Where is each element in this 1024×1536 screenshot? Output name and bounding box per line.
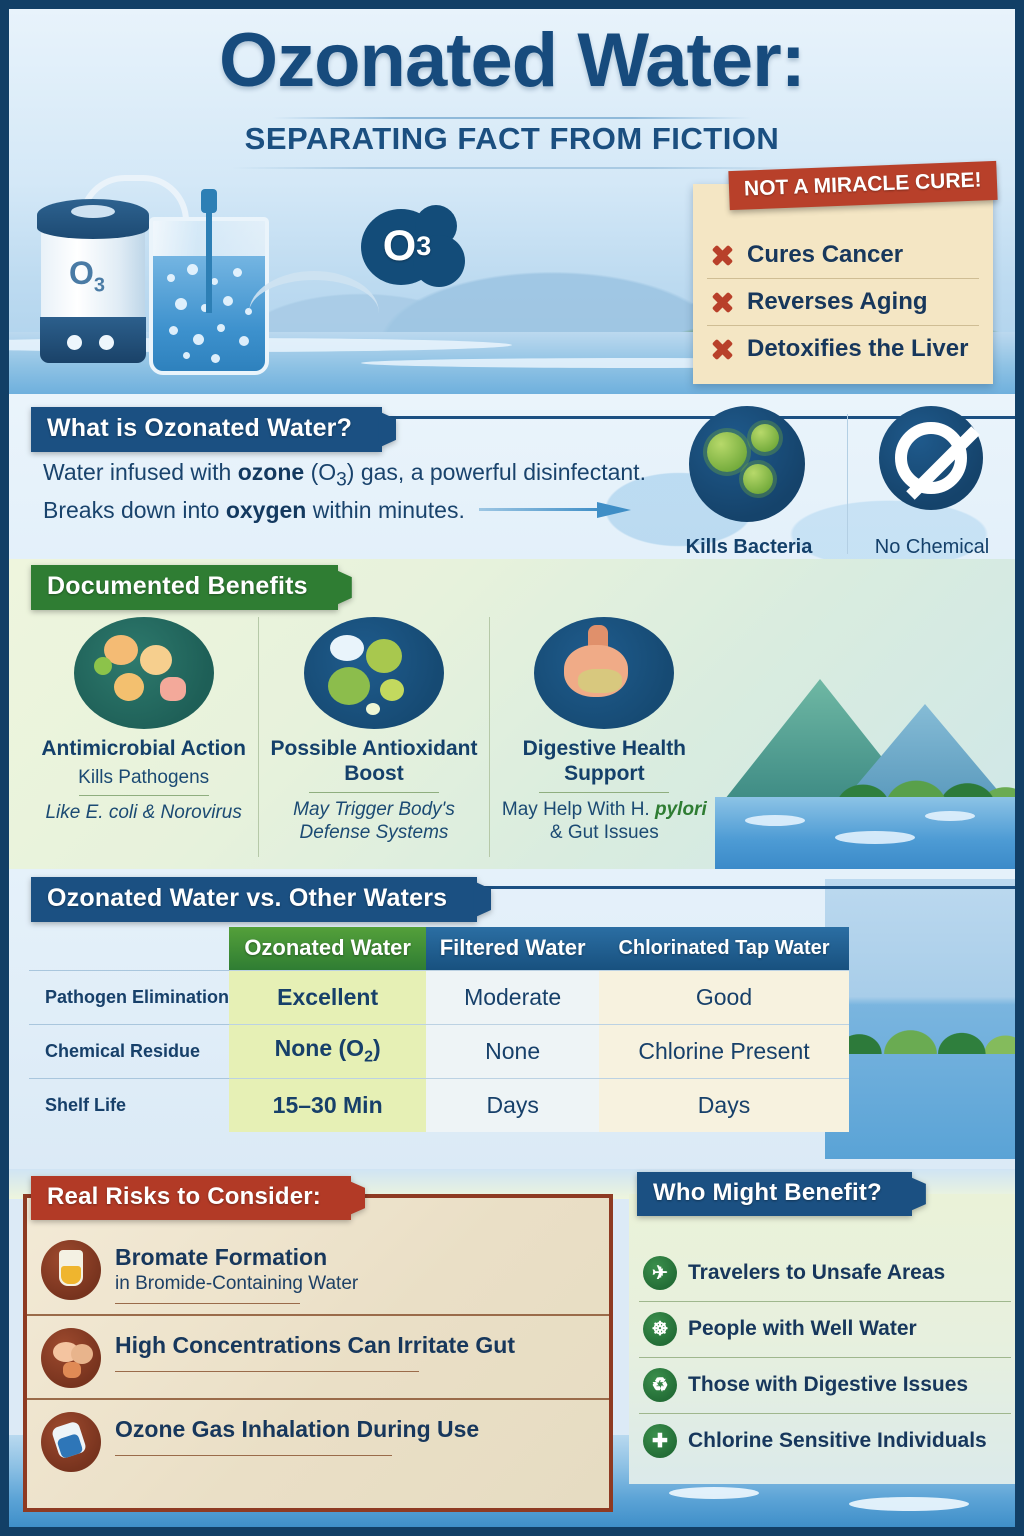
who-panel: ✈ Travelers to Unsafe Areas ☸ People wit… [629, 1194, 1019, 1484]
cell-filtered: Days [426, 1078, 599, 1132]
o3-badge-label: O3 [361, 205, 453, 287]
risks-banner: Real Risks to Consider: [31, 1176, 351, 1220]
column-header-chlorinated: Chlorinated Tap Water [599, 927, 849, 970]
table-row: Pathogen Elimination Excellent Moderate … [29, 970, 849, 1024]
myth-item: Reverses Aging [707, 278, 979, 325]
h-pylori-highlight: pylori [655, 799, 707, 820]
benefits-columns: Antimicrobial Action Kills Pathogens Lik… [29, 617, 719, 857]
organs-icon [41, 1328, 101, 1388]
who-item: ♻ Those with Digestive Issues [639, 1357, 1011, 1413]
who-item: ✚ Chlorine Sensitive Individuals [639, 1413, 1011, 1469]
benefits-banner: Documented Benefits [31, 565, 338, 610]
title-divider [272, 117, 752, 119]
digestive-tract-icon [534, 617, 674, 729]
who-item: ☸ People with Well Water [639, 1301, 1011, 1357]
comparison-banner-label: Ozonated Water vs. Other Waters [47, 884, 447, 912]
subtitle-divider [232, 167, 792, 169]
header-section: Ozonated Water: SEPARATING FACT FROM FIC… [9, 9, 1015, 394]
infographic-poster: Ozonated Water: SEPARATING FACT FROM FIC… [0, 0, 1024, 1536]
who-item-label: Travelers to Unsafe Areas [688, 1261, 945, 1285]
myth-item-label: Reverses Aging [747, 288, 928, 316]
benefit-sub-line2: Defense Systems [269, 821, 478, 845]
generator-button [99, 335, 114, 350]
inhaler-icon [41, 1412, 101, 1472]
risk-heading: High Concentrations Can Irritate Gut [115, 1332, 515, 1359]
germs-circle-icon [689, 406, 805, 522]
benefit-sub-line1: May Help With H. pylori [500, 798, 709, 822]
comparison-banner: Ozonated Water vs. Other Waters [31, 877, 477, 922]
benefits-water [715, 797, 1015, 869]
risk-text: High Concentrations Can Irritate Gut [115, 1328, 515, 1372]
digestive-icon: ♻ [643, 1368, 677, 1402]
no-residue-icon [879, 406, 983, 510]
icon-divider [847, 414, 848, 554]
cell-chlorinated: Good [599, 970, 849, 1024]
generator-cap-highlight [71, 205, 115, 218]
myth-item-label: Cures Cancer [747, 241, 903, 269]
cell-chlorinated: Days [599, 1078, 849, 1132]
cell-ozonated: None (O2) [229, 1024, 426, 1078]
ozone-generator-illustration: O3 [27, 177, 297, 382]
risk-heading: Bromate Formation [115, 1244, 358, 1271]
x-mark-icon [709, 289, 735, 315]
benefit-divider [539, 792, 669, 793]
risk-item: High Concentrations Can Irritate Gut [27, 1314, 609, 1398]
x-mark-icon [709, 242, 735, 268]
table-row: Chemical Residue None (O2) None Chlorine… [29, 1024, 849, 1078]
what-is-section: What is Ozonated Water? Water infused wi… [9, 394, 1015, 559]
row-label: Chemical Residue [29, 1024, 229, 1078]
what-is-banner-label: What is Ozonated Water? [47, 414, 352, 442]
who-item-label: People with Well Water [688, 1317, 917, 1341]
risk-text: Ozone Gas Inhalation During Use [115, 1412, 479, 1456]
cell-ozonated: 15–30 Min [229, 1078, 426, 1132]
flask-icon [41, 1240, 101, 1300]
table-corner-cell [29, 927, 229, 970]
well-water-icon: ☸ [643, 1312, 677, 1346]
benefit-sub-line1: Kills Pathogens [39, 766, 248, 790]
arrow-icon [479, 502, 639, 518]
what-is-line1: Water infused with ozone (O3) gas, a pow… [43, 456, 663, 494]
pathogens-petri-icon [74, 617, 214, 729]
comparison-table: Ozonated Water Filtered Water Chlorinate… [29, 927, 849, 1132]
cell-filtered: None [426, 1024, 599, 1078]
benefit-title: Antimicrobial Action [39, 737, 248, 762]
risk-heading: Ozone Gas Inhalation During Use [115, 1416, 479, 1443]
benefits-section: Documented Benefits Antimicrobial Action… [9, 559, 1015, 869]
myth-item-label: Detoxifies the Liver [747, 335, 968, 363]
risk-text: Bromate Formation in Bromide-Containing … [115, 1240, 358, 1304]
risk-item: Bromate Formation in Bromide-Containing … [27, 1228, 609, 1314]
who-list: ✈ Travelers to Unsafe Areas ☸ People wit… [639, 1246, 1011, 1469]
plus-cross-icon: ✚ [643, 1424, 677, 1458]
benefit-sub-line2: & Gut Issues [500, 821, 709, 845]
airplane-icon: ✈ [643, 1256, 677, 1290]
row-label: Shelf Life [29, 1078, 229, 1132]
page-subtitle: SEPARATING FACT FROM FICTION [9, 121, 1015, 157]
what-is-banner: What is Ozonated Water? [31, 407, 382, 452]
cell-chlorinated: Chlorine Present [599, 1024, 849, 1078]
row-label: Pathogen Elimination [29, 970, 229, 1024]
antioxidant-cells-icon [304, 617, 444, 729]
who-item-label: Chlorine Sensitive Individuals [688, 1429, 987, 1453]
column-header-ozonated: Ozonated Water [229, 927, 426, 970]
who-banner: Who Might Benefit? [637, 1172, 912, 1216]
table-row: Shelf Life 15–30 Min Days Days [29, 1078, 849, 1132]
benefit-column: Digestive Health Support May Help With H… [489, 617, 719, 857]
o3-badge-icon: O3 [361, 205, 465, 289]
page-title: Ozonated Water: [9, 17, 1015, 104]
benefit-divider [79, 795, 209, 796]
who-item: ✈ Travelers to Unsafe Areas [639, 1246, 1011, 1301]
benefit-title: Digestive Health Support [500, 737, 709, 787]
benefits-banner-label: Documented Benefits [47, 572, 308, 600]
benefit-column: Antimicrobial Action Kills Pathogens Lik… [29, 617, 258, 857]
water-glass [149, 217, 269, 375]
cell-filtered: Moderate [426, 970, 599, 1024]
risks-panel: Bromate Formation in Bromide-Containing … [23, 1194, 613, 1512]
who-item-label: Those with Digestive Issues [688, 1373, 968, 1397]
who-banner-label: Who Might Benefit? [653, 1179, 882, 1206]
benefit-title: Possible Antioxidant Boost [269, 737, 478, 787]
column-header-filtered: Filtered Water [426, 927, 599, 970]
risks-banner-label: Real Risks to Consider: [47, 1183, 321, 1210]
x-mark-icon [709, 336, 735, 362]
generator-base [40, 317, 146, 363]
generator-button [67, 335, 82, 350]
table-header-row: Ozonated Water Filtered Water Chlorinate… [29, 927, 849, 970]
risk-item: Ozone Gas Inhalation During Use [27, 1398, 609, 1482]
generator-o3-label: O3 [69, 255, 105, 297]
myth-card: Cures Cancer Reverses Aging Detoxifies t… [693, 184, 993, 384]
comparison-trees [825, 984, 1015, 1054]
myth-item: Detoxifies the Liver [707, 325, 979, 372]
comparison-rule [439, 886, 1015, 889]
comparison-section: Ozonated Water vs. Other Waters Ozonated… [9, 869, 1015, 1169]
cell-ozonated: Excellent [229, 970, 426, 1024]
ozone-probe-tip [201, 189, 217, 213]
benefit-sub-line1: May Trigger Body's [269, 798, 478, 822]
subtitle-text: SEPARATING FACT FROM FICTION [245, 121, 780, 156]
risk-subtext: in Bromide-Containing Water [115, 1273, 358, 1295]
benefit-sub-line2: Like E. coli & Norovirus [39, 801, 248, 825]
myth-item: Cures Cancer [707, 232, 979, 278]
benefit-column: Possible Antioxidant Boost May Trigger B… [258, 617, 488, 857]
benefit-divider [309, 792, 439, 793]
